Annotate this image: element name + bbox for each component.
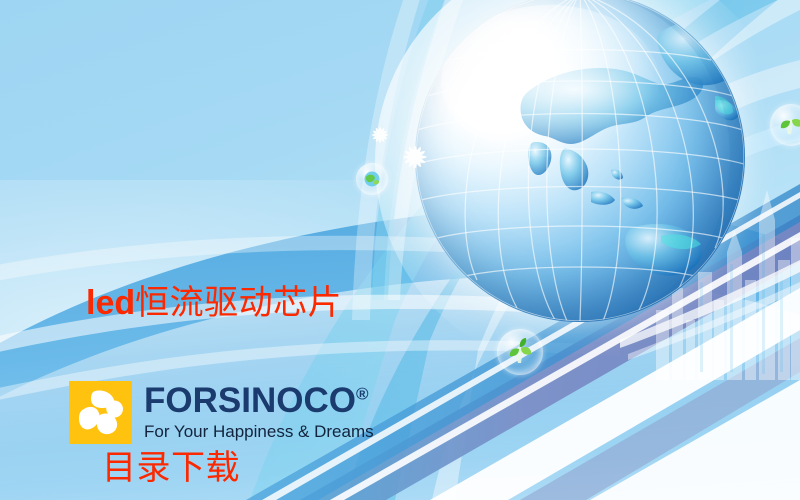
- pinwheel-petals-shape: [69, 381, 132, 444]
- pinwheel-petals-icon: [69, 381, 132, 444]
- flower-decoration-1: [368, 123, 392, 147]
- flower-decoration-2: [398, 140, 432, 174]
- bubble-leaf-edge: [770, 104, 800, 146]
- promo-banner: led恒流驱动芯片 目录下载 FORSINOCO® For Your Happ: [0, 0, 800, 500]
- light-streaks: [620, 230, 800, 360]
- headline-latin: led: [86, 284, 135, 322]
- city-skyline-icon: [650, 160, 800, 380]
- logo-tagline: For Your Happiness & Dreams: [144, 423, 374, 442]
- logo-text-block: FORSINOCO® For Your Happiness & Dreams: [144, 383, 374, 442]
- sprout-icon: [497, 329, 543, 375]
- page-title: led恒流驱动芯片 目录下载: [86, 166, 342, 500]
- logo-wordmark: FORSINOCO®: [144, 383, 374, 418]
- globe-icon: [356, 163, 388, 195]
- company-logo: FORSINOCO® For Your Happiness & Dreams: [69, 381, 374, 444]
- logo-wordmark-text: FORSINOCO: [144, 381, 356, 420]
- globe-sphere: [415, 0, 745, 322]
- globe-glow: [375, 0, 795, 372]
- bubble-sprout: [497, 329, 543, 375]
- globe-highlight: [441, 5, 659, 157]
- headline-line-1: led恒流驱动芯片: [86, 276, 342, 331]
- headline-line-2: 目录下载: [86, 441, 342, 496]
- bubble-globe: [356, 163, 388, 195]
- registered-trademark-icon: ®: [356, 385, 369, 404]
- world-globe: [415, 0, 755, 332]
- headline-cjk: 恒流驱动芯片: [135, 285, 342, 322]
- leaf-icon: [770, 104, 800, 146]
- globe-graticule-and-continents: [415, 0, 745, 322]
